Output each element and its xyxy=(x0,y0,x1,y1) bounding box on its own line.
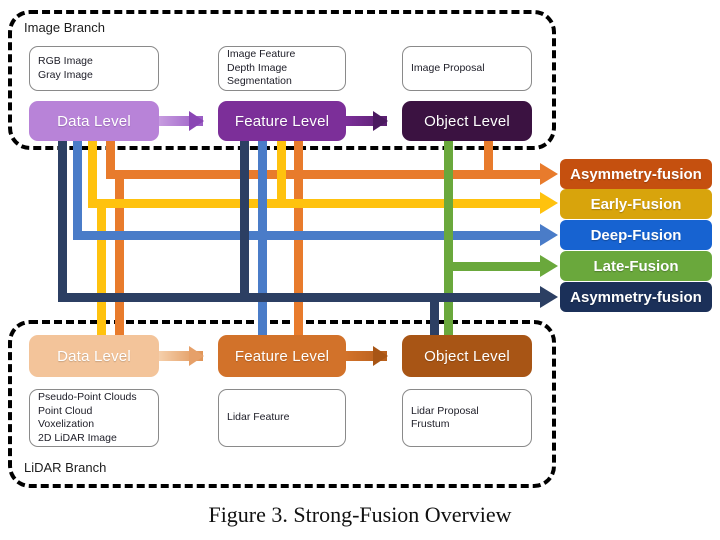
fusion-chip-asymmetry-fusion-bottom[interactable]: Asymmetry-fusion xyxy=(560,282,712,312)
image-data-description: RGB Image Gray Image xyxy=(29,46,159,91)
desc-line: Image Proposal xyxy=(411,62,523,76)
orange-arrowhead xyxy=(540,163,558,185)
image-feature-to-object-arrow xyxy=(346,116,387,126)
green-line-image-object-to-lidar-object xyxy=(444,140,453,335)
lidar-object-description: Lidar Proposal Frustum xyxy=(402,389,532,447)
desc-line: Lidar Proposal xyxy=(411,405,523,419)
image-data-level-box[interactable]: Data Level xyxy=(29,101,159,141)
image-feature-description: Image Feature Depth Image Segmentation xyxy=(218,46,346,91)
fusion-chip-asymmetry-fusion-top[interactable]: Asymmetry-fusion xyxy=(560,159,712,189)
desc-line: Lidar Feature xyxy=(227,411,337,425)
figure-caption: Figure 3. Strong-Fusion Overview xyxy=(0,502,720,528)
lidar-data-description: Pseudo-Point Clouds Point Cloud Voxeliza… xyxy=(29,389,159,447)
desc-line: Depth Image xyxy=(227,62,337,76)
fusion-chip-deep-fusion[interactable]: Deep-Fusion xyxy=(560,220,712,250)
green-fusion-bus xyxy=(444,262,545,271)
desc-line: Pseudo-Point Clouds xyxy=(38,391,150,405)
desc-line: RGB Image xyxy=(38,55,150,69)
lidar-data-level-box[interactable]: Data Level xyxy=(29,335,159,377)
desc-line: 2D LiDAR Image xyxy=(38,432,150,446)
desc-line: Image Feature xyxy=(227,48,337,62)
image-object-description: Image Proposal xyxy=(402,46,532,91)
image-feature-level-box[interactable]: Feature Level xyxy=(218,101,346,141)
navy-line-from-image-data xyxy=(58,140,67,302)
desc-line: Gray Image xyxy=(38,69,150,83)
yellow-fusion-bus xyxy=(88,199,545,208)
yellow-line-from-lidar-data xyxy=(97,199,106,335)
blue-line-from-image-data xyxy=(73,140,82,240)
lidar-data-to-feature-arrow xyxy=(159,351,203,361)
desc-line: Voxelization xyxy=(38,418,150,432)
yellow-arrowhead xyxy=(540,192,558,214)
figure-canvas: Image Branch LiDAR Branch RGB Image Gray… xyxy=(0,0,720,540)
blue-fusion-bus xyxy=(73,231,545,240)
navy-fusion-bus xyxy=(58,293,545,302)
navy-line-from-image-feature xyxy=(240,140,249,302)
lidar-feature-to-object-arrow xyxy=(346,351,387,361)
green-arrowhead xyxy=(540,255,558,277)
yellow-line-from-image-feature xyxy=(277,140,286,208)
desc-line: Point Cloud xyxy=(38,405,150,419)
image-object-level-box[interactable]: Object Level xyxy=(402,101,532,141)
desc-line: Segmentation xyxy=(227,75,337,89)
lidar-object-level-box[interactable]: Object Level xyxy=(402,335,532,377)
lidar-branch-label: LiDAR Branch xyxy=(24,460,106,475)
lidar-feature-level-box[interactable]: Feature Level xyxy=(218,335,346,377)
fusion-chip-early-fusion[interactable]: Early-Fusion xyxy=(560,189,712,219)
lidar-feature-description: Lidar Feature xyxy=(218,389,346,447)
orange-fusion-bus xyxy=(106,170,545,179)
blue-arrowhead xyxy=(540,224,558,246)
fusion-chip-late-fusion[interactable]: Late-Fusion xyxy=(560,251,712,281)
yellow-line-from-image-data xyxy=(88,140,97,208)
navy-arrowhead xyxy=(540,286,558,308)
desc-line: Frustum xyxy=(411,418,523,432)
image-branch-label: Image Branch xyxy=(24,20,105,35)
image-data-to-feature-arrow xyxy=(159,116,203,126)
